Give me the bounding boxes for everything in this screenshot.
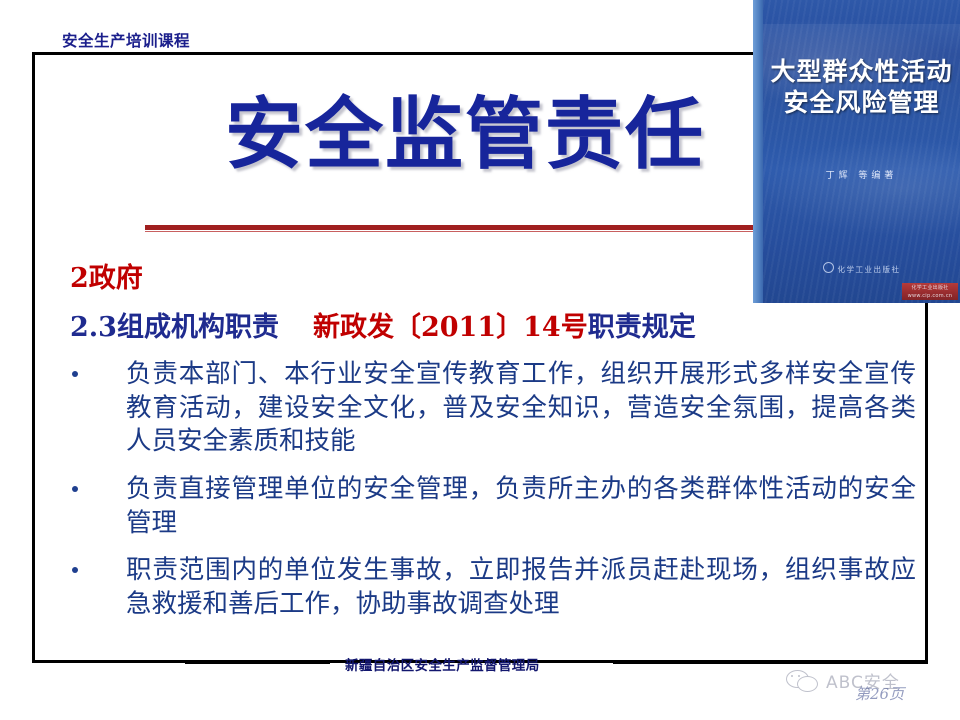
subsection-document-ref: 新政发〔2011〕14号 xyxy=(313,312,588,343)
page-title: 安全监管责任 xyxy=(225,96,705,174)
bullet-dot-icon xyxy=(72,486,78,492)
book-spine-edge xyxy=(753,0,763,303)
subsection-prefix: 2.3组成机构职责 xyxy=(70,312,279,343)
slide-canvas: 安全生产培训课程 安全监管责任 大型群众性活动 安全风险管理 丁辉 等编著 化学… xyxy=(0,0,960,720)
book-author-text: 丁辉 等编著 xyxy=(763,168,960,181)
subsection-heading: 2.3组成机构职责新政发〔2011〕14号职责规定 xyxy=(70,305,696,344)
title-divider-rule xyxy=(145,224,755,232)
bullet-dot-icon xyxy=(72,371,78,377)
list-item-text: 负责本部门、本行业安全宣传教育工作，组织开展形式多样安全宣传教育活动，建设安全文… xyxy=(126,358,916,459)
bullet-dot-icon xyxy=(72,567,78,573)
list-item: 职责范围内的单位发生事故，立即报告并派员赶赴现场，组织事故应急救援和善后工作，协… xyxy=(68,554,916,621)
footer-rule-right xyxy=(613,661,928,664)
publisher-logo-icon xyxy=(823,262,834,273)
title-divider-thin-line xyxy=(145,231,755,232)
chat-bubble-icon xyxy=(786,670,820,692)
publisher-name: 化学工业出版社 xyxy=(838,265,901,274)
book-corner-badge: 化学工业出版社 www.cip.com.cn xyxy=(902,283,958,300)
footer-rule-left xyxy=(185,661,330,664)
title-divider-thick-line xyxy=(145,225,755,230)
list-item-text: 负责直接管理单位的安全管理，负责所主办的各类群体性活动的安全管理 xyxy=(126,473,916,540)
bullet-list: 负责本部门、本行业安全宣传教育工作，组织开展形式多样安全宣传教育活动，建设安全文… xyxy=(68,358,916,636)
book-title-line-2: 安全风险管理 xyxy=(763,88,960,119)
book-publisher-text: 化学工业出版社 xyxy=(763,262,960,275)
subsection-suffix: 职责规定 xyxy=(588,312,696,343)
list-item: 负责本部门、本行业安全宣传教育工作，组织开展形式多样安全宣传教育活动，建设安全文… xyxy=(68,358,916,459)
list-item: 负责直接管理单位的安全管理，负责所主办的各类群体性活动的安全管理 xyxy=(68,473,916,540)
list-item-text: 职责范围内的单位发生事故，立即报告并派员赶赴现场，组织事故应急救援和善后工作，协… xyxy=(126,554,916,621)
footer-organization-label: 新疆自治区安全生产监督管理局 xyxy=(345,654,540,674)
chat-bubble-front xyxy=(797,676,818,692)
book-cover-image: 大型群众性活动 安全风险管理 丁辉 等编著 化学工业出版社 化学工业出版社 ww… xyxy=(753,0,960,303)
book-badge-text: 化学工业出版社 www.cip.com.cn xyxy=(902,283,958,300)
section-heading: 2政府 xyxy=(70,256,143,295)
course-header-label: 安全生产培训课程 xyxy=(62,29,190,51)
book-title-line-1: 大型群众性活动 xyxy=(763,57,960,88)
page-number: 第26页 xyxy=(855,683,904,704)
book-title-text: 大型群众性活动 安全风险管理 xyxy=(763,57,960,118)
